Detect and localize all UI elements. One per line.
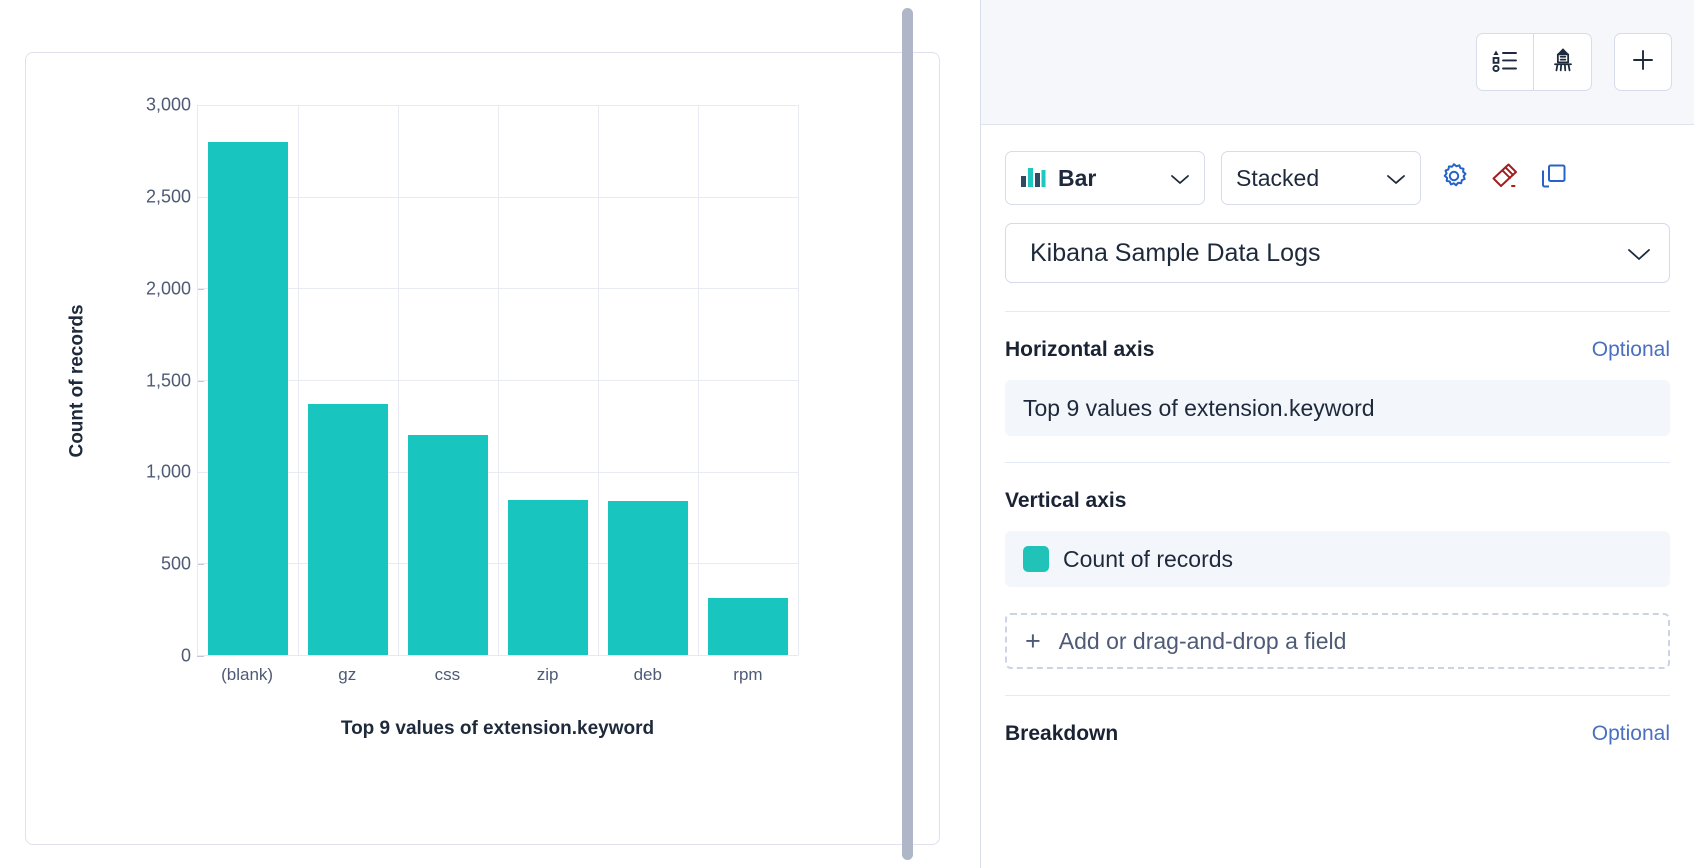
plot-area (197, 105, 798, 656)
plus-icon (1628, 45, 1658, 80)
legend-list-icon (1489, 44, 1521, 81)
bar-slot (398, 105, 498, 655)
bar-series (198, 105, 798, 655)
bar[interactable] (708, 598, 788, 655)
bar-slot (298, 105, 398, 655)
x-tick-label: (blank) (197, 665, 297, 685)
bar[interactable] (208, 142, 288, 655)
breakdown-section: Breakdown Optional (1005, 722, 1670, 746)
copy-button[interactable] (1537, 161, 1571, 195)
bar[interactable] (408, 435, 488, 655)
bar-slot (198, 105, 298, 655)
x-tick-label: gz (297, 665, 397, 685)
chart-type-select[interactable]: Bar (1005, 151, 1205, 205)
section-optional-label: Optional (1592, 722, 1670, 746)
chevron-down-icon (1386, 172, 1406, 184)
stacking-select[interactable]: Stacked (1221, 151, 1421, 205)
y-tick-label: 2,000 (146, 278, 191, 299)
y-tick-label: 3,000 (146, 95, 191, 116)
config-body: Bar Stacked (981, 125, 1694, 746)
brush-icon (1548, 45, 1578, 80)
y-tick-label: 1,000 (146, 462, 191, 483)
chart-pane: Count of records 3,000 2,500 2,000 1,500… (0, 0, 980, 868)
bar[interactable] (308, 404, 388, 655)
config-toolbar (981, 0, 1694, 125)
horizontal-axis-field-label: Top 9 values of extension.keyword (1023, 395, 1375, 422)
bar-slot (698, 105, 798, 655)
section-divider (1005, 695, 1670, 696)
vertical-axis-field[interactable]: Count of records (1005, 531, 1670, 587)
section-title: Horizontal axis (1005, 338, 1154, 362)
y-tick-label: 2,500 (146, 186, 191, 207)
series-color-swatch[interactable] (1023, 546, 1049, 572)
chart-card: Count of records 3,000 2,500 2,000 1,500… (25, 52, 940, 845)
lens-editor: Count of records 3,000 2,500 2,000 1,500… (0, 0, 1694, 868)
section-title: Breakdown (1005, 722, 1118, 746)
stacking-label: Stacked (1236, 165, 1319, 192)
section-header: Vertical axis (1005, 489, 1670, 513)
brush-button[interactable] (1534, 33, 1592, 91)
x-axis-ticks: (blank)gzcsszipdebrpm (197, 665, 798, 685)
vertical-axis-section: Vertical axis Count of records + Add or … (1005, 489, 1670, 669)
y-tick-label: 500 (161, 554, 191, 575)
add-layer-button[interactable] (1614, 33, 1672, 91)
copy-icon (1539, 161, 1569, 196)
section-header: Horizontal axis Optional (1005, 338, 1670, 362)
plus-icon: + (1025, 628, 1041, 655)
gridline-vertical (798, 105, 799, 655)
data-source-select[interactable]: Kibana Sample Data Logs (1005, 223, 1670, 283)
section-optional-label: Optional (1592, 338, 1670, 362)
chevron-down-icon (1627, 247, 1647, 259)
data-source-label: Kibana Sample Data Logs (1030, 239, 1320, 268)
chart-type-row: Bar Stacked (1005, 151, 1670, 205)
x-tick-label: deb (598, 665, 698, 685)
clear-button[interactable] (1487, 161, 1521, 195)
section-title: Vertical axis (1005, 489, 1126, 513)
gear-icon (1439, 161, 1469, 196)
bar-slot (498, 105, 598, 655)
y-tick-label: 1,500 (146, 370, 191, 391)
y-axis-ticks: 3,000 2,500 2,000 1,500 1,000 500 0 (86, 105, 191, 656)
bar[interactable] (608, 501, 688, 655)
dropzone-label: Add or drag-and-drop a field (1059, 628, 1347, 655)
panel-resize-handle[interactable] (902, 8, 913, 860)
config-pane: Bar Stacked (980, 0, 1694, 868)
section-divider (1005, 311, 1670, 312)
chart-canvas[interactable]: Count of records 3,000 2,500 2,000 1,500… (26, 53, 939, 844)
chevron-down-icon (1170, 172, 1190, 184)
legend-list-button[interactable] (1476, 33, 1534, 91)
horizontal-axis-field[interactable]: Top 9 values of extension.keyword (1005, 380, 1670, 436)
bar-slot (598, 105, 698, 655)
y-tick-label: 0 (181, 646, 191, 667)
x-tick-label: zip (498, 665, 598, 685)
eraser-icon (1489, 161, 1519, 196)
tick-mark (197, 656, 204, 657)
vertical-axis-field-label: Count of records (1063, 546, 1233, 573)
x-tick-label: rpm (698, 665, 798, 685)
bar[interactable] (508, 500, 588, 655)
bar-chart-icon (1020, 164, 1046, 193)
chart-type-label: Bar (1058, 165, 1096, 192)
horizontal-axis-section: Horizontal axis Optional Top 9 values of… (1005, 338, 1670, 436)
toolbar-button-group (1476, 33, 1592, 91)
section-divider (1005, 462, 1670, 463)
vertical-axis-dropzone[interactable]: + Add or drag-and-drop a field (1005, 613, 1670, 669)
x-axis-title: Top 9 values of extension.keyword (197, 718, 798, 740)
settings-button[interactable] (1437, 161, 1471, 195)
section-header: Breakdown Optional (1005, 722, 1670, 746)
x-tick-label: css (397, 665, 497, 685)
